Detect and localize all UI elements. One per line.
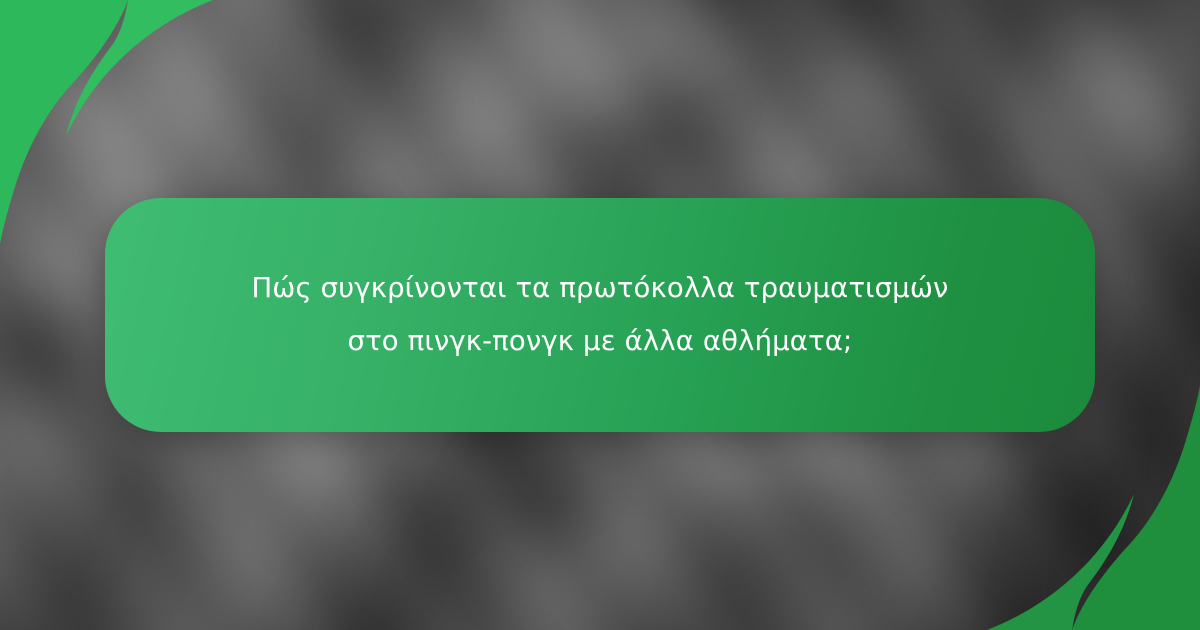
question-card: Πώς συγκρίνονται τα πρωτόκολλα τραυματισ… (105, 198, 1095, 432)
social-card-canvas: Πώς συγκρίνονται τα πρωτόκολλα τραυματισ… (0, 0, 1200, 630)
question-text: Πώς συγκρίνονται τα πρωτόκολλα τραυματισ… (225, 262, 974, 368)
